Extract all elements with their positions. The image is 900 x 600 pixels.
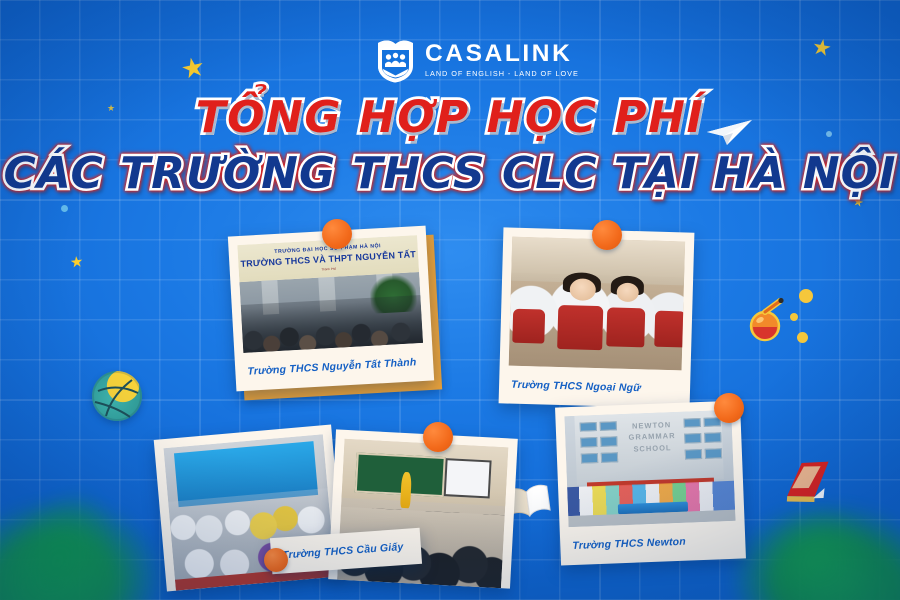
background-vignette xyxy=(0,0,900,600)
poster-canvas: ★ ★ ★ ★ ★ xyxy=(0,0,900,600)
